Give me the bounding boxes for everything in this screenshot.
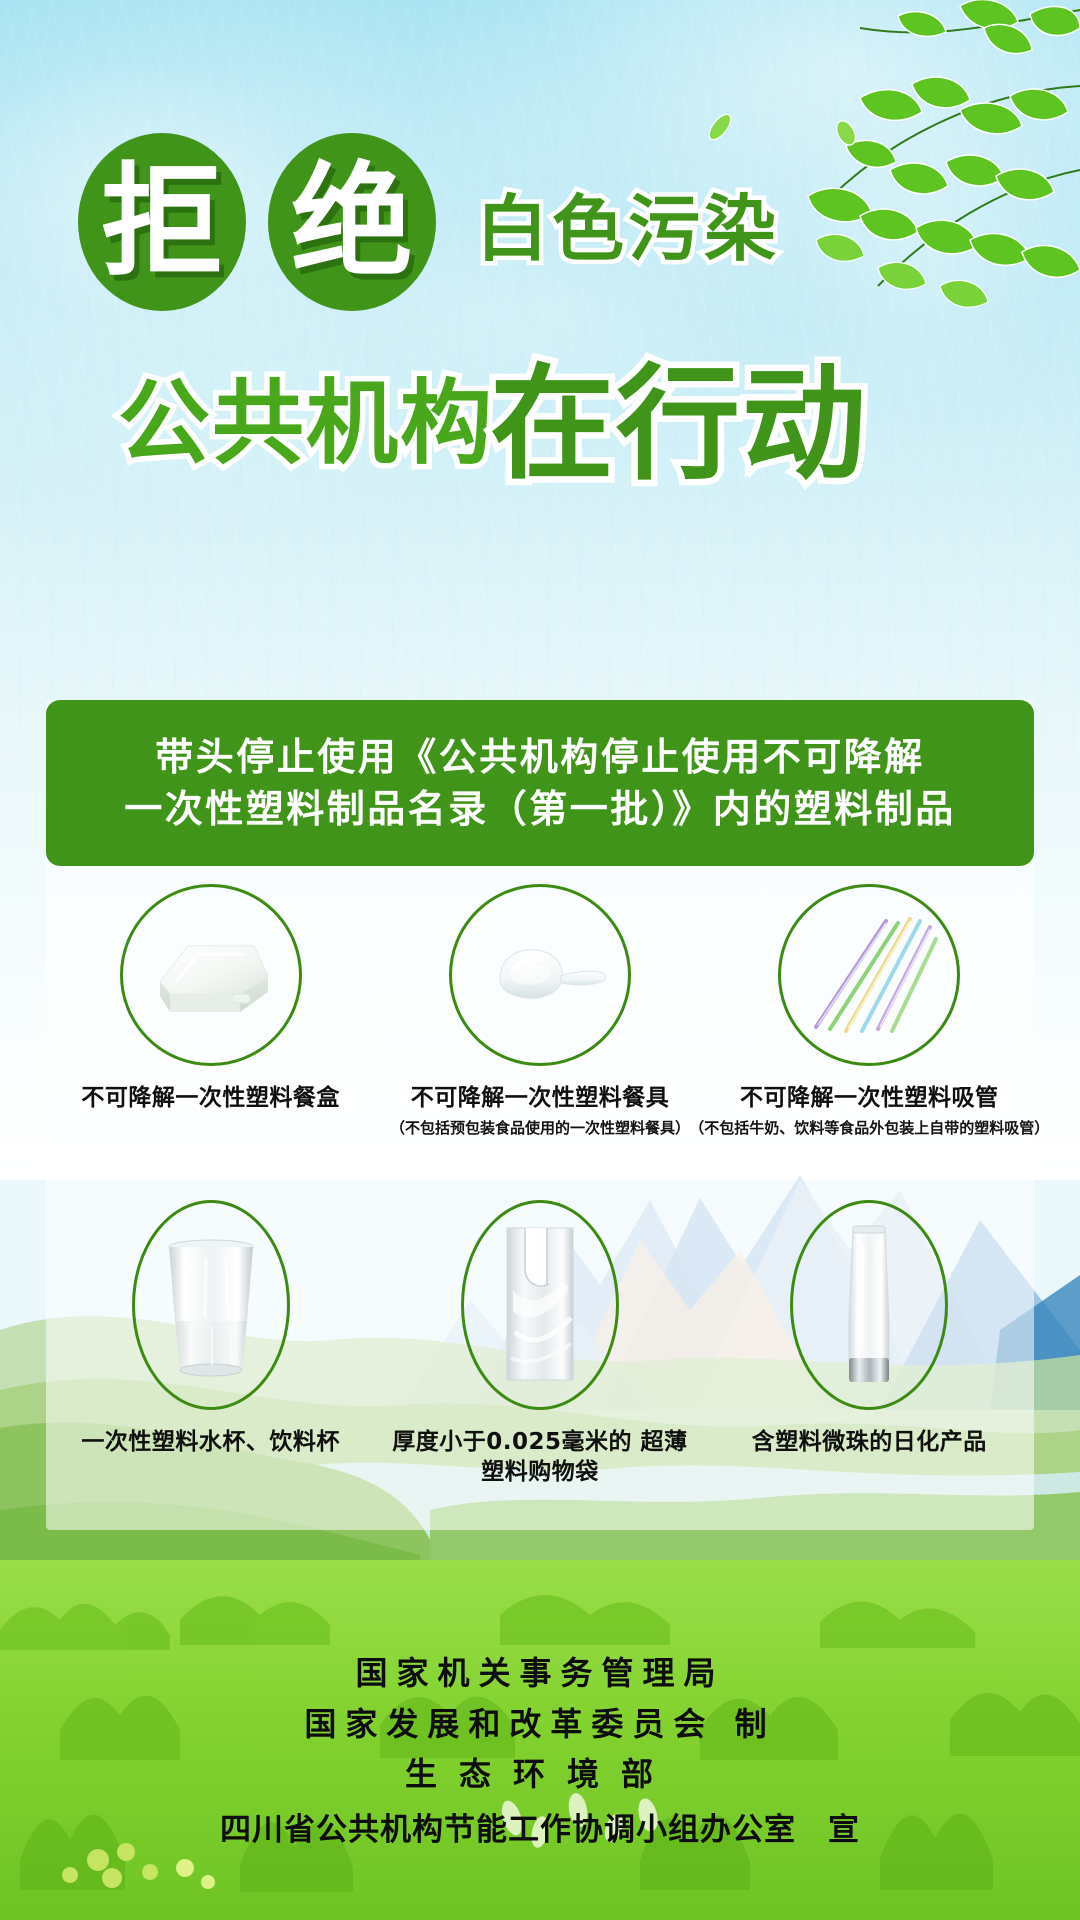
item-lunch-box-label: 不可降解一次性塑料餐盒 xyxy=(81,1084,340,1114)
item-bag-circle xyxy=(461,1200,619,1410)
item-cup-label: 一次性塑料水杯、饮料杯 xyxy=(81,1428,340,1458)
cosmetic-tube-icon xyxy=(819,1220,919,1390)
poster-root: 拒 绝 白色污染 公共机构 在行动 带头停止使用《公共机构停止使用不可降解 一次… xyxy=(0,0,1080,1920)
plastic-spoon-icon xyxy=(462,920,618,1030)
item-straws-circle xyxy=(778,884,960,1066)
foam-lunch-box-icon xyxy=(136,920,286,1030)
item-cutlery-circle xyxy=(449,884,631,1066)
banned-items-row-1: 不可降解一次性塑料餐盒 xyxy=(46,880,1034,1205)
item-cup: 一次性塑料水杯、饮料杯 xyxy=(46,1200,375,1525)
banned-items-row-2: 一次性塑料水杯、饮料杯 xyxy=(46,1200,1034,1525)
headline-big: 在行动 xyxy=(490,368,868,482)
footer-line-4: 四川省公共机构节能工作协调小组办公室 宣 xyxy=(220,1806,860,1855)
title-badge-jue: 绝 xyxy=(268,133,436,311)
item-straws: 不可降解一次性塑料吸管 （不包括牛奶、饮料等食品外包装上自带的塑料吸管） xyxy=(705,880,1034,1205)
banner-line-1: 带头停止使用《公共机构停止使用不可降解 xyxy=(155,731,925,783)
title-badge-ju-char: 拒 xyxy=(101,161,223,283)
item-cutlery-label: 不可降解一次性塑料餐具 xyxy=(411,1084,670,1114)
issuer-footer: 国家机关事务管理局 国家发展和改革委员会 制 生态环境部 四川省公共机构节能工作… xyxy=(0,1648,1080,1855)
item-bag: 厚度小于0.025毫米的 超薄塑料购物袋 xyxy=(375,1200,704,1525)
item-straws-note: （不包括牛奶、饮料等食品外包装上自带的塑料吸管） xyxy=(689,1119,1049,1138)
item-cosmetic-label: 含塑料微珠的日化产品 xyxy=(752,1428,987,1458)
plastic-bag-icon xyxy=(485,1220,595,1390)
item-cutlery: 不可降解一次性塑料餐具 （不包括预包装食品使用的一次性塑料餐具） xyxy=(375,880,704,1205)
headline-small: 公共机构 xyxy=(118,349,494,482)
plastic-cup-icon xyxy=(156,1225,266,1385)
banner-line-2: 一次性塑料制品名录（第一批）》内的塑料制品 xyxy=(124,783,956,835)
title-badge-ju: 拒 xyxy=(78,133,246,311)
item-cosmetic-circle xyxy=(790,1200,948,1410)
item-straws-label: 不可降解一次性塑料吸管 xyxy=(740,1084,999,1114)
item-lunch-box: 不可降解一次性塑料餐盒 xyxy=(46,880,375,1205)
item-cosmetic: 含塑料微珠的日化产品 xyxy=(705,1200,1034,1525)
item-cup-circle xyxy=(132,1200,290,1410)
policy-banner: 带头停止使用《公共机构停止使用不可降解 一次性塑料制品名录（第一批）》内的塑料制… xyxy=(46,700,1034,866)
item-bag-label: 厚度小于0.025毫米的 超薄塑料购物袋 xyxy=(390,1428,690,1488)
title-row-primary: 拒 绝 白色污染 xyxy=(78,132,780,312)
footer-line-1: 国家机关事务管理局 xyxy=(355,1648,724,1699)
banned-items-grid: 不可降解一次性塑料餐盒 xyxy=(46,880,1034,1530)
title-row-secondary: 公共机构 在行动 xyxy=(118,352,978,482)
plastic-straws-icon xyxy=(794,905,944,1045)
title-subtitle: 白色污染 xyxy=(476,170,780,275)
item-lunch-box-circle xyxy=(120,884,302,1066)
title-badge-jue-char: 绝 xyxy=(291,161,413,283)
footer-line-3: 生态环境部 xyxy=(405,1749,675,1800)
item-cutlery-note: （不包括预包装食品使用的一次性塑料餐具） xyxy=(390,1119,690,1138)
footer-line-2: 国家发展和改革委员会 制 xyxy=(304,1699,775,1750)
